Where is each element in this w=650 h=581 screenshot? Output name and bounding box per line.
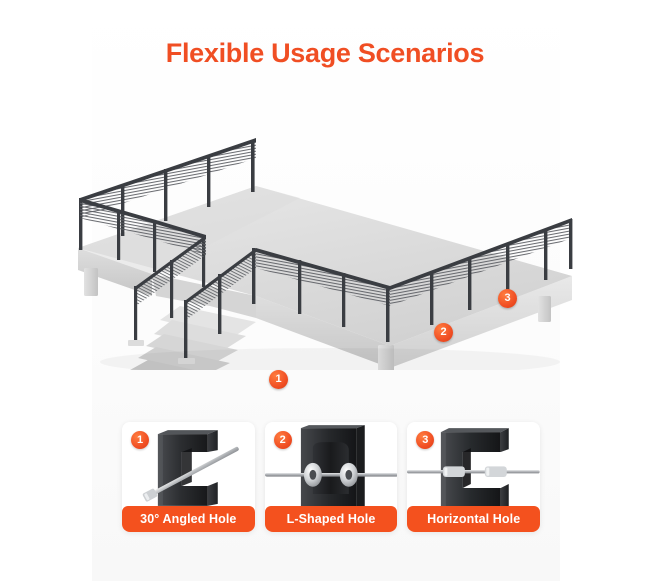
card-label-l-shaped-hole: L-Shaped Hole <box>265 506 398 532</box>
card-label-angled-hole: 30° Angled Hole <box>122 506 255 532</box>
detail-card-angled-hole[interactable]: 1 30° Angled Hole <box>122 422 255 532</box>
page-title: Flexible Usage Scenarios <box>0 38 650 69</box>
detail-card-l-shaped-hole[interactable]: 2 L-Shaped Hole <box>265 422 398 532</box>
detail-card-horizontal-hole[interactable]: 3 Horizontal Hole <box>407 422 540 532</box>
detail-card-list: 1 30° Angled Hole <box>122 422 540 532</box>
card-number-badge-2: 2 <box>274 431 292 449</box>
card-number-badge-1: 1 <box>131 431 149 449</box>
card-label-horizontal-hole: Horizontal Hole <box>407 506 540 532</box>
hero-marker-2[interactable]: 2 <box>434 323 453 342</box>
hero-marker-3[interactable]: 3 <box>498 289 517 308</box>
page-root: Flexible Usage Scenarios <box>0 0 650 581</box>
hero-illustration: 1 2 3 <box>60 100 600 370</box>
hero-marker-1[interactable]: 1 <box>269 370 288 389</box>
